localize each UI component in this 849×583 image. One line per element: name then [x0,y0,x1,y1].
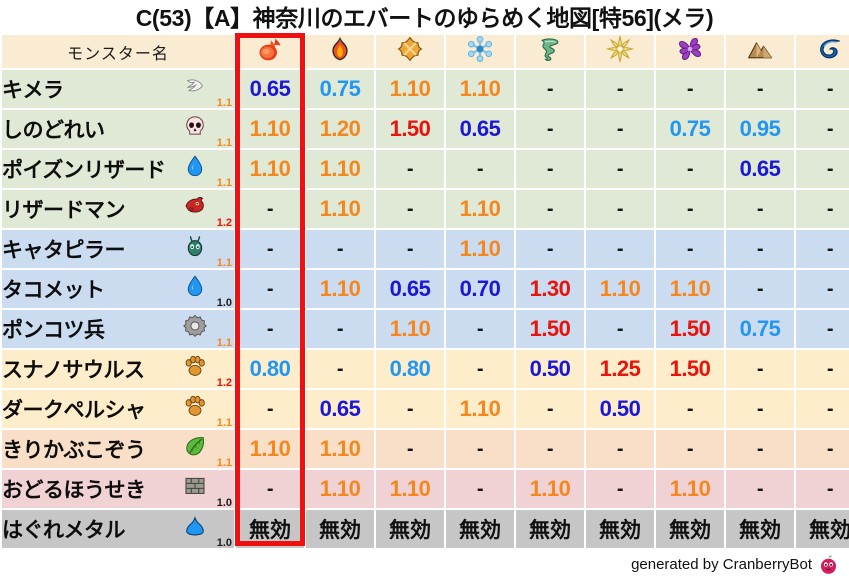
resist-cell[interactable]: 0.70 [446,270,514,308]
header-element-8[interactable] [796,35,849,68]
monster-name-cell[interactable]: ポイズンリザード1.1 [2,150,234,188]
fireball-icon [256,35,284,67]
resist-cell[interactable]: 1.10 [656,270,724,308]
page-root: C(53)【A】神奈川のエバートのゆらめく地図[特56](メラ) モンスター名キ… [0,0,849,583]
monster-level: 1.0 [217,297,232,309]
header-element-5[interactable] [586,35,654,68]
header-element-2[interactable] [376,35,444,68]
resist-cell[interactable]: - [236,190,304,228]
resist-cell[interactable]: - [516,70,584,108]
resist-cell[interactable]: 1.10 [446,390,514,428]
monster-name-cell[interactable]: ダークペルシャ1.1 [2,390,234,428]
resist-cell[interactable]: 無効 [726,510,794,548]
resist-cell[interactable]: - [796,270,849,308]
resist-cell[interactable]: - [586,310,654,348]
table-row: ポイズンリザード1.11.101.10-----0.65- [2,150,849,188]
monster-name-cell[interactable]: キャタピラー1.1 [2,230,234,268]
resist-cell[interactable]: - [376,190,444,228]
resist-cell[interactable]: 無効 [376,510,444,548]
resist-cell[interactable]: 1.10 [306,190,374,228]
resist-cell[interactable]: 1.10 [446,70,514,108]
header-monster-name: モンスター名 [2,35,234,68]
resist-cell[interactable]: - [656,390,724,428]
resist-cell[interactable]: - [656,190,724,228]
resist-cell[interactable]: - [796,70,849,108]
resist-cell[interactable]: - [376,390,444,428]
monster-level: 1.1 [217,97,232,109]
table-row: しのどれい1.11.101.201.500.65--0.750.95- [2,110,849,148]
resist-cell[interactable]: 0.75 [306,70,374,108]
resist-cell[interactable]: 1.50 [516,310,584,348]
resist-cell[interactable]: - [446,150,514,188]
resist-cell[interactable]: - [446,470,514,508]
slime-icon [182,514,208,540]
footer-text: generated by CranberryBot [631,556,812,573]
resist-cell[interactable]: - [726,190,794,228]
monster-level: 1.1 [217,457,232,469]
cranberry-icon [818,554,839,575]
resist-cell[interactable]: - [586,470,654,508]
table-row: スナノサウルス1.20.80-0.80-0.501.251.50-- [2,350,849,388]
resist-cell[interactable]: 1.10 [306,150,374,188]
resist-cell[interactable]: - [516,190,584,228]
resist-cell[interactable]: - [586,110,654,148]
monster-name-label: きりかぶこぞう [2,434,146,464]
monster-level: 1.1 [217,137,232,149]
monster-level: 1.2 [217,377,232,389]
monster-name-cell[interactable]: きりかぶこぞう1.1 [2,430,234,468]
resist-cell[interactable]: 0.65 [726,150,794,188]
monster-name-label: タコメット [2,274,105,304]
resist-cell[interactable]: - [796,470,849,508]
resist-cell[interactable]: - [656,70,724,108]
explosion-icon [396,35,424,67]
pawprint-icon [182,394,208,420]
page-title: C(53)【A】神奈川のエバートのゆらめく地図[特56](メラ) [0,0,849,32]
resist-cell[interactable]: 無効 [656,510,724,548]
monster-name-cell[interactable]: タコメット1.0 [2,270,234,308]
resist-cell[interactable]: - [376,430,444,468]
resist-cell[interactable]: 1.30 [516,270,584,308]
resist-cell[interactable]: - [306,310,374,348]
table-row: はぐれメタル1.0無効無効無効無効無効無効無効無効無効 [2,510,849,548]
resist-cell[interactable]: 1.25 [586,350,654,388]
resist-cell[interactable]: 1.50 [376,110,444,148]
leaf-icon [182,434,208,460]
monster-name-cell[interactable]: スナノサウルス1.2 [2,350,234,388]
monster-name-cell[interactable]: ポンコツ兵1.1 [2,310,234,348]
resist-cell[interactable]: - [376,150,444,188]
resist-cell[interactable]: - [516,150,584,188]
monster-level: 1.1 [217,417,232,429]
resist-cell[interactable]: 0.65 [376,270,444,308]
resist-cell[interactable]: - [516,430,584,468]
resist-cell[interactable]: - [796,190,849,228]
resist-cell[interactable]: - [516,230,584,268]
resist-cell[interactable]: 0.65 [236,70,304,108]
waterdrop-icon [182,154,208,180]
resist-cell[interactable]: 1.10 [586,270,654,308]
resist-cell[interactable]: 0.50 [586,390,654,428]
resistance-table-wrapper: モンスター名キメラ1.10.650.751.101.10-----しのどれい1.… [0,33,849,550]
resist-cell[interactable]: - [236,270,304,308]
resist-cell[interactable]: 無効 [516,510,584,548]
resist-cell[interactable]: 0.80 [376,350,444,388]
resist-cell[interactable]: 0.50 [516,350,584,388]
monster-name-cell[interactable]: しのどれい1.1 [2,110,234,148]
gear-icon [182,314,208,340]
resist-cell[interactable]: 1.50 [656,310,724,348]
resist-cell[interactable]: - [516,110,584,148]
resist-cell[interactable]: 0.75 [726,310,794,348]
snowflake-icon [466,35,494,67]
resist-cell[interactable]: - [796,230,849,268]
monster-name-cell[interactable]: リザードマン1.2 [2,190,234,228]
monster-name-label: ダークペルシャ [2,394,146,424]
resist-cell[interactable]: 1.10 [306,270,374,308]
resist-cell[interactable]: 無効 [306,510,374,548]
monster-level: 1.0 [217,497,232,509]
resist-cell[interactable]: 1.10 [446,190,514,228]
monster-name-cell[interactable]: キメラ1.1 [2,70,234,108]
resist-cell[interactable]: 0.95 [726,110,794,148]
resist-cell[interactable]: - [586,430,654,468]
resist-cell[interactable]: - [446,350,514,388]
resist-cell[interactable]: - [656,430,724,468]
resist-cell[interactable]: - [796,110,849,148]
brick-icon [182,474,208,500]
table-row: リザードマン1.2-1.10-1.10----- [2,190,849,228]
resist-cell[interactable]: - [796,310,849,348]
resist-cell[interactable]: 1.10 [376,70,444,108]
resist-cell[interactable]: - [376,230,444,268]
monster-name-label: キメラ [2,74,64,104]
resist-cell[interactable]: - [726,270,794,308]
mountain-icon [746,35,774,67]
resist-cell[interactable]: - [726,390,794,428]
dragonhead-icon [182,194,208,220]
table-row: キャタピラー1.1---1.10----- [2,230,849,268]
resist-cell[interactable]: 1.20 [306,110,374,148]
monster-level: 1.1 [217,177,232,189]
sparkle-icon [606,35,634,67]
monster-level: 1.1 [217,337,232,349]
header-element-7[interactable] [726,35,794,68]
resist-cell[interactable]: - [236,390,304,428]
resist-cell[interactable]: - [586,190,654,228]
bug-icon [182,234,208,260]
resist-cell[interactable]: - [306,350,374,388]
resist-cell[interactable]: - [446,430,514,468]
monster-name-label: しのどれい [2,114,105,144]
resist-cell[interactable]: 1.10 [306,470,374,508]
resist-cell[interactable]: 0.80 [236,350,304,388]
table-row: ダークペルシャ1.1-0.65-1.10-0.50--- [2,390,849,428]
resist-cell[interactable]: - [796,350,849,388]
resist-cell[interactable]: - [586,230,654,268]
resist-cell[interactable]: - [236,230,304,268]
flame-icon [326,35,354,67]
header-element-6[interactable] [656,35,724,68]
resist-cell[interactable]: - [236,470,304,508]
monster-level: 1.2 [217,217,232,229]
monster-level: 1.1 [217,257,232,269]
resist-cell[interactable]: - [726,430,794,468]
resist-cell[interactable]: - [586,150,654,188]
pinwheel-icon [676,35,704,67]
footer-credit: generated by CranberryBot [631,554,839,575]
header-element-1[interactable] [306,35,374,68]
table-row: おどるほうせき1.0-1.101.10-1.10-1.10-- [2,470,849,508]
resist-cell[interactable]: - [796,430,849,468]
table-row: キメラ1.10.650.751.101.10----- [2,70,849,108]
monster-name-label: ポイズンリザード [2,154,165,184]
resist-cell[interactable]: 1.10 [236,110,304,148]
waterdrop-icon [182,274,208,300]
resist-cell[interactable]: 0.75 [656,110,724,148]
resist-cell[interactable]: - [726,230,794,268]
monster-name-label: キャタピラー [2,234,125,264]
monster-level: 1.0 [217,537,232,549]
resist-cell[interactable]: 1.10 [236,430,304,468]
wave-icon [816,35,844,67]
resist-cell[interactable]: 1.10 [306,430,374,468]
resist-cell[interactable]: 無効 [586,510,654,548]
resist-cell[interactable]: - [726,350,794,388]
table-header-row: モンスター名 [2,35,849,68]
resist-cell[interactable]: - [446,310,514,348]
resist-cell[interactable]: 無効 [446,510,514,548]
monster-name-label: おどるほうせき [2,474,146,504]
resist-cell[interactable]: 0.65 [306,390,374,428]
resist-cell[interactable]: - [656,150,724,188]
resist-cell[interactable]: - [656,230,724,268]
monster-name-cell[interactable]: おどるほうせき1.0 [2,470,234,508]
resist-cell[interactable]: - [726,70,794,108]
resist-cell[interactable]: - [516,390,584,428]
resist-cell[interactable]: - [796,150,849,188]
resist-cell[interactable]: - [236,310,304,348]
tornado-icon [536,35,564,67]
table-row: ポンコツ兵1.1--1.10-1.50-1.500.75- [2,310,849,348]
monster-name-label: スナノサウルス [2,354,144,384]
resist-cell[interactable]: - [796,390,849,428]
resist-cell[interactable]: 1.10 [446,230,514,268]
monster-name-label: ポンコツ兵 [2,314,105,344]
monster-name-cell[interactable]: はぐれメタル1.0 [2,510,234,548]
resist-cell[interactable]: 無効 [796,510,849,548]
header-element-0[interactable] [236,35,304,68]
monster-name-label: はぐれメタル [2,514,125,544]
skull-icon [182,114,208,140]
resist-cell[interactable]: 無効 [236,510,304,548]
header-element-4[interactable] [516,35,584,68]
table-body: モンスター名キメラ1.10.650.751.101.10-----しのどれい1.… [2,35,849,548]
resistance-table: モンスター名キメラ1.10.650.751.101.10-----しのどれい1.… [0,33,849,550]
resist-cell[interactable]: 1.10 [236,150,304,188]
resist-cell[interactable]: 0.65 [446,110,514,148]
resist-cell[interactable]: 1.10 [516,470,584,508]
resist-cell[interactable]: - [306,230,374,268]
resist-cell[interactable]: 1.10 [376,470,444,508]
header-element-3[interactable] [446,35,514,68]
monster-name-label: リザードマン [2,194,125,224]
resist-cell[interactable]: - [586,70,654,108]
pawprint-icon [182,354,208,380]
resist-cell[interactable]: 1.50 [656,350,724,388]
wing-icon [182,74,208,100]
resist-cell[interactable]: 1.10 [376,310,444,348]
resist-cell[interactable]: 1.10 [656,470,724,508]
resist-cell[interactable]: - [726,470,794,508]
table-row: きりかぶこぞう1.11.101.10------- [2,430,849,468]
table-row: タコメット1.0-1.100.650.701.301.101.10-- [2,270,849,308]
